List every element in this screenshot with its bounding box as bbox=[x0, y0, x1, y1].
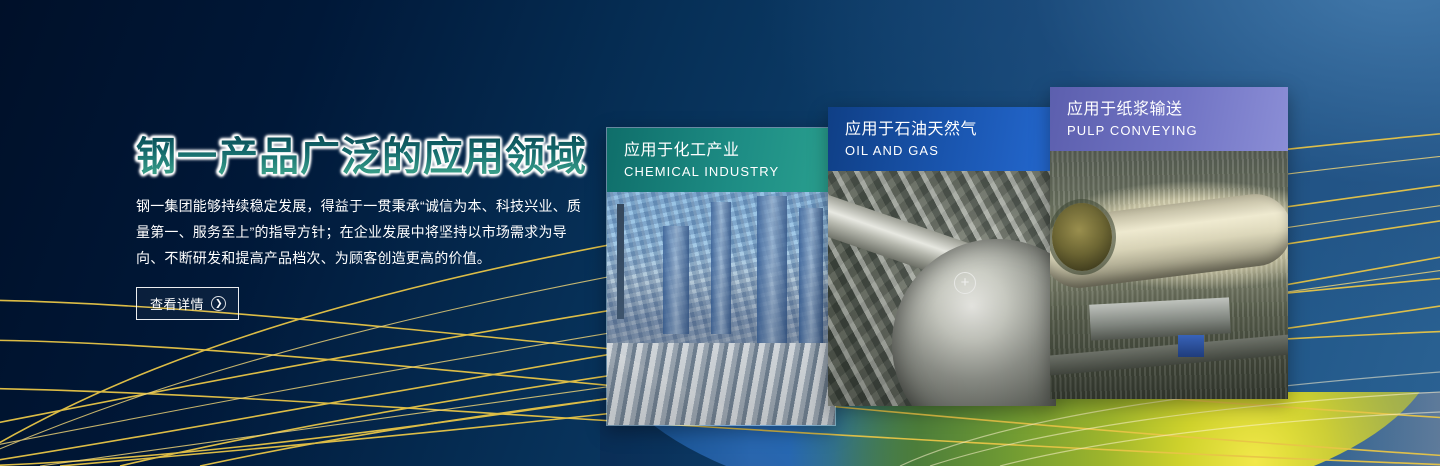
card-chemical-industry[interactable]: 应用于化工产业 CHEMICAL INDUSTRY bbox=[606, 127, 836, 426]
tower-shape bbox=[663, 226, 689, 334]
view-details-label: 查看详情 bbox=[150, 294, 204, 313]
machine-frame-shape bbox=[1089, 297, 1231, 340]
card-title-cn: 应用于化工产业 bbox=[624, 140, 835, 162]
card-title-en: CHEMICAL INDUSTRY bbox=[624, 163, 835, 181]
oil-and-gas-pipes-photo: + bbox=[828, 171, 1056, 406]
pulp-conveying-roller-photo bbox=[1050, 151, 1288, 399]
card-title-cn: 应用于纸浆输送 bbox=[1067, 99, 1288, 121]
card-caption: 应用于石油天然气 OIL AND GAS bbox=[828, 107, 1056, 171]
card-oil-and-gas[interactable]: 应用于石油天然气 OIL AND GAS + bbox=[828, 107, 1056, 406]
photo-art bbox=[607, 192, 835, 425]
tower-shape bbox=[799, 208, 823, 348]
card-title-cn: 应用于石油天然气 bbox=[845, 119, 1056, 141]
smokestack-shape bbox=[617, 204, 624, 319]
card-caption: 应用于纸浆输送 PULP CONVEYING bbox=[1050, 87, 1288, 151]
tower-shape bbox=[711, 202, 731, 334]
photo-art: + bbox=[828, 171, 1056, 406]
tower-shape bbox=[757, 196, 787, 346]
view-details-button[interactable]: 查看详情 ❯ bbox=[136, 287, 239, 320]
blue-valve-shape bbox=[1178, 335, 1204, 357]
card-title-en: PULP CONVEYING bbox=[1067, 122, 1288, 140]
page-title: 钢一产品广泛的应用领域 bbox=[136, 136, 596, 179]
arrow-right-circle-icon: ❯ bbox=[211, 296, 226, 311]
card-pulp-conveying[interactable]: 应用于纸浆输送 PULP CONVEYING bbox=[1050, 87, 1288, 399]
card-caption: 应用于化工产业 CHEMICAL INDUSTRY bbox=[607, 128, 835, 192]
card-title-en: OIL AND GAS bbox=[845, 142, 1056, 160]
banner-paragraph: 钢一集团能够持续稳定发展，得益于一贯秉承“诚信为本、科技兴业、质量第一、服务至上… bbox=[136, 193, 584, 271]
chemical-plant-photo bbox=[607, 192, 835, 425]
banner-copy-block: 钢一产品广泛的应用领域 钢一集团能够持续稳定发展，得益于一贯秉承“诚信为本、科技… bbox=[136, 136, 596, 320]
zoom-plus-icon[interactable]: + bbox=[954, 272, 976, 294]
photo-art bbox=[1050, 151, 1288, 399]
application-fields-banner: 钢一产品广泛的应用领域 钢一集团能够持续稳定发展，得益于一贯秉承“诚信为本、科技… bbox=[0, 0, 1440, 466]
roller-hub-shape bbox=[1052, 203, 1112, 271]
lower-bar-shape bbox=[1050, 334, 1288, 376]
pipe-rack-shape bbox=[607, 343, 835, 425]
